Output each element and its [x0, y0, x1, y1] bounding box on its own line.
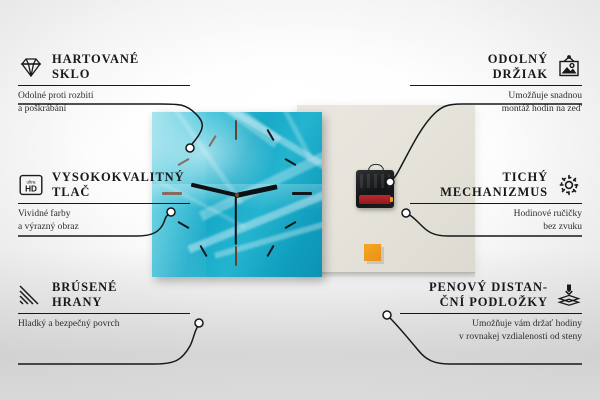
- feature-title-line2: ČNÍ PODLOŽKY: [429, 295, 548, 310]
- feature-title-line1: HARTOVANÉ: [52, 52, 139, 67]
- feature-desc-line1: Hladký a bezpečný povrch: [18, 319, 120, 329]
- feature-desc-line1: Hodinové ručičky: [514, 209, 582, 219]
- feature-desc-line1: Vividné farby: [18, 209, 70, 219]
- feature-title-line2: MECHANIZMUS: [440, 185, 548, 200]
- feature-title-line1: VYSOKOKVALITNÝ: [52, 170, 185, 185]
- feature-description: Odolné proti rozbití a poškrábání: [18, 90, 190, 115]
- feature-title-line2: TLAČ: [52, 185, 185, 200]
- feature-tempered-glass: HARTOVANÉ SKLO Odolné proti rozbití a po…: [18, 52, 190, 115]
- feature-title-line1: BRÚSENÉ: [52, 280, 117, 295]
- stacked-layers-arrow-icon: [556, 283, 582, 307]
- feature-title-line1: ODOLNÝ: [488, 52, 548, 67]
- diamond-icon: [18, 55, 44, 79]
- svg-text:HD: HD: [25, 184, 37, 193]
- feature-divider: [410, 85, 582, 86]
- clock-tick-6: [235, 246, 237, 266]
- feature-divider: [18, 85, 190, 86]
- gear-icon: [556, 173, 582, 197]
- feature-high-quality-print: ultra HD VYSOKOKVALITNÝ TLAČ Vividné far…: [18, 170, 190, 233]
- feature-divider: [18, 203, 190, 204]
- clock-tick-5: [266, 245, 274, 257]
- feature-silent-mechanism: TICHÝ MECHANIZMUS Hodinové ručičky bez z…: [410, 170, 582, 233]
- beveled-edge-icon: [18, 283, 44, 307]
- feature-description: Hodinové ručičky bez zvuku: [410, 208, 582, 233]
- feature-description: Vividné farby a výrazný obraz: [18, 208, 190, 233]
- feature-desc-line1: Odolné proti rozbití: [18, 91, 93, 101]
- clock-center-pin: [235, 193, 239, 197]
- clock-tick-2: [284, 158, 296, 166]
- clock-tick-12: [235, 120, 237, 140]
- mechanism-hanger-hook: [368, 164, 384, 173]
- feature-desc-line2: montáž hodin na zeď: [502, 104, 582, 114]
- feature-description: Umožňuje snadnou montáž hodin na zeď: [410, 90, 582, 115]
- feature-title-line2: DRŽIAK: [488, 67, 548, 82]
- clock-second-hand: [235, 195, 237, 245]
- mechanism-body-detail: [360, 174, 390, 188]
- ultra-hd-icon: ultra HD: [18, 173, 44, 197]
- clock-tick-4: [284, 221, 296, 229]
- feature-title-line2: SKLO: [52, 67, 139, 82]
- battery: [359, 195, 391, 204]
- feature-title-line1: TICHÝ: [440, 170, 548, 185]
- feature-desc-line2: v rovnakej vzdialenosti od steny: [459, 332, 582, 342]
- feature-desc-line2: a poškrábání: [18, 104, 66, 114]
- feature-description: Hladký a bezpečný povrch: [18, 318, 190, 331]
- feature-title-line1: PENOVÝ DISTAN-: [429, 280, 548, 295]
- feature-title-line2: HRANY: [52, 295, 117, 310]
- foam-spacer-pad: [364, 244, 381, 261]
- clock-tick-3: [292, 192, 312, 195]
- clock-tick-11: [208, 135, 217, 147]
- feature-desc-line2: bez zvuku: [543, 222, 582, 232]
- clock-mechanism: [356, 170, 394, 208]
- feature-divider: [400, 313, 582, 314]
- hanging-picture-icon: [556, 55, 582, 79]
- feature-divider: [410, 203, 582, 204]
- feature-desc-line1: Umožňuje vám držať hodiny: [472, 319, 582, 329]
- feature-durable-hanger: ODOLNÝ DRŽIAK Umožňuje snadnou montáž ho…: [410, 52, 582, 115]
- feature-desc-line2: a výrazný obraz: [18, 222, 79, 232]
- feature-divider: [18, 313, 190, 314]
- feature-foam-spacers: PENOVÝ DISTAN- ČNÍ PODLOŽKY Umožňuje vám…: [400, 280, 582, 343]
- feature-polished-edges: BRÚSENÉ HRANY Hladký a bezpečný povrch: [18, 280, 190, 331]
- feature-desc-line1: Umožňuje snadnou: [508, 91, 582, 101]
- product-infographic: HARTOVANÉ SKLO Odolné proti rozbití a po…: [0, 0, 600, 400]
- feature-description: Umožňuje vám držať hodiny v rovnakej vzd…: [400, 318, 582, 343]
